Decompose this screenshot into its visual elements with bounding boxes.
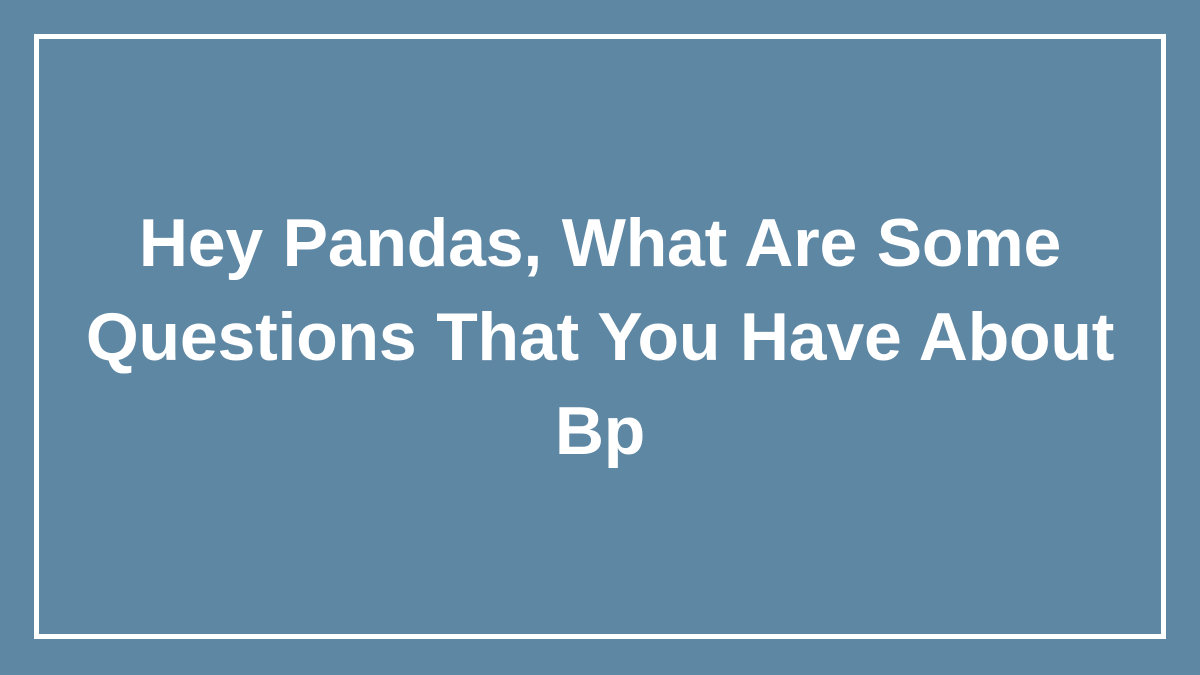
- poster-canvas: Hey Pandas, What Are Some Questions That…: [0, 0, 1200, 675]
- page-title: Hey Pandas, What Are Some Questions That…: [60, 196, 1140, 478]
- headline-container: Hey Pandas, What Are Some Questions That…: [60, 34, 1140, 639]
